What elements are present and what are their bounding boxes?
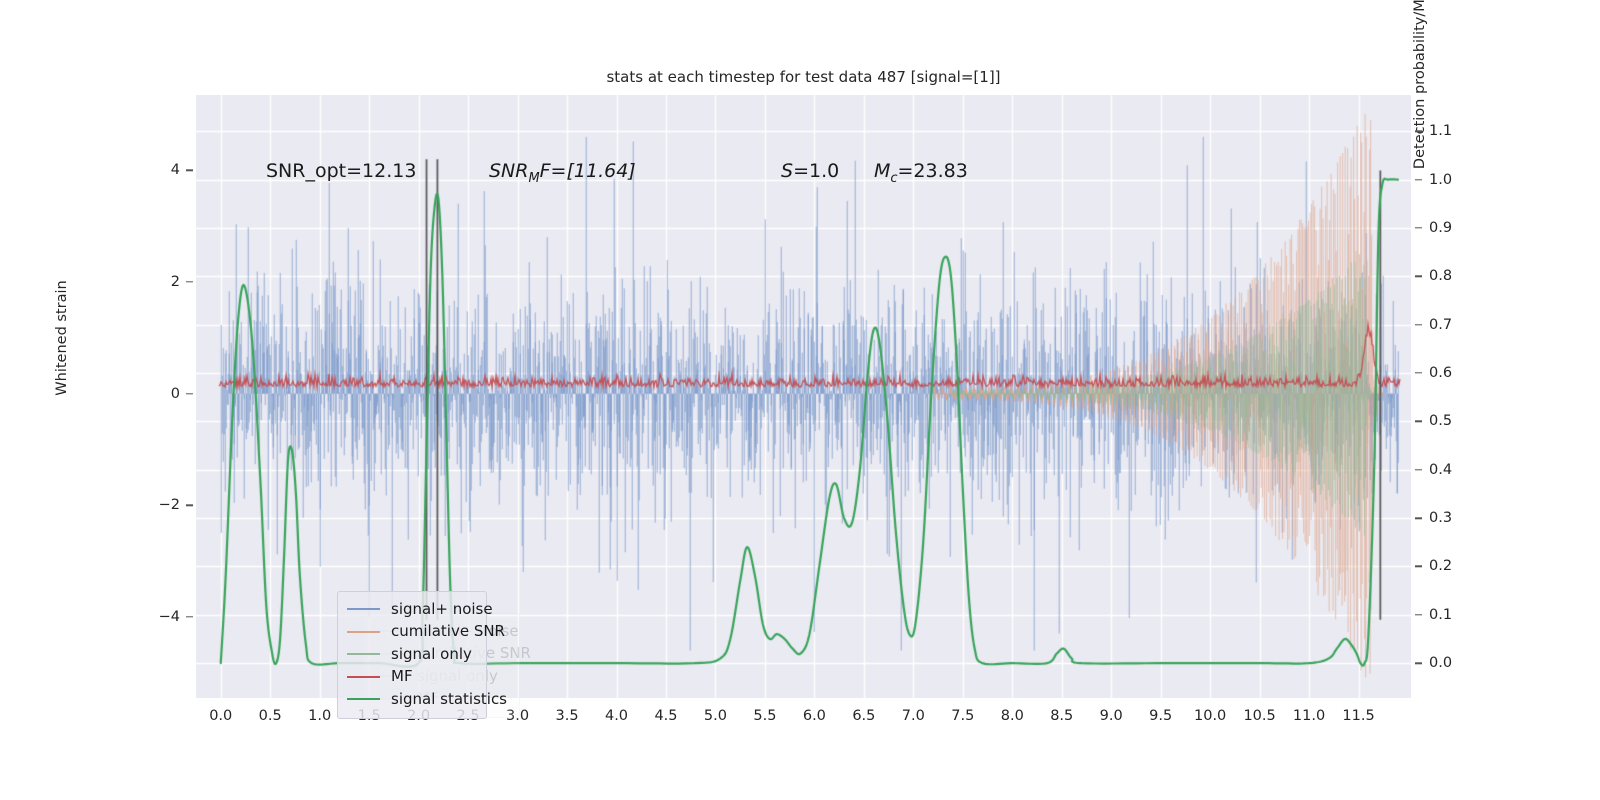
y-tick-mark-right xyxy=(1415,517,1422,518)
annotation-snr-mf: SNRMF=[11.64] xyxy=(489,160,636,186)
annotation-mc-val: =23.83 xyxy=(898,160,968,182)
x-tick-label: 7.5 xyxy=(951,708,974,724)
x-tick-label: 3.5 xyxy=(555,708,578,724)
x-tick-label: 5.5 xyxy=(753,708,776,724)
y-tick-mark-right xyxy=(1415,131,1422,132)
y-tick-mark-right xyxy=(1415,614,1422,615)
y-tick-mark-right xyxy=(1415,372,1422,373)
x-tick-label: 9.0 xyxy=(1100,708,1123,724)
x-tick-label: 0.0 xyxy=(209,708,232,724)
y-tick-label-right: 0.6 xyxy=(1429,365,1452,381)
legend-label: signal statistics xyxy=(391,692,507,707)
y-tick-label-right: 0.8 xyxy=(1429,268,1452,284)
annotation-snr-mf-sym: SNR xyxy=(489,160,528,182)
y-tick-label-right: 0.2 xyxy=(1429,558,1452,574)
annotation-s-val: =1.0 xyxy=(793,160,839,182)
y-tick-label-right: 0.3 xyxy=(1429,510,1452,526)
x-tick-label: 10.5 xyxy=(1243,708,1275,724)
annotation-snr-opt: SNR_opt=12.13 xyxy=(266,160,416,182)
y-tick-label-right: 0.9 xyxy=(1429,220,1452,236)
y-tick-label-right: 1.1 xyxy=(1429,123,1452,139)
legend-label: cumilative SNR xyxy=(391,624,505,639)
x-tick-label: 0.5 xyxy=(259,708,282,724)
y-tick-label-left: 2 xyxy=(140,274,180,290)
y-tick-label-right: 0.1 xyxy=(1429,607,1452,623)
x-tick-label: 11.0 xyxy=(1293,708,1325,724)
y-tick-label-right: 0.4 xyxy=(1429,462,1452,478)
legend-label: signal only xyxy=(391,647,472,662)
y-tick-label-left: −2 xyxy=(140,497,180,513)
x-tick-label: 8.0 xyxy=(1001,708,1024,724)
y-tick-label-left: −4 xyxy=(140,609,180,625)
y-tick-mark-right xyxy=(1415,227,1422,228)
legend-label: signal+ noise xyxy=(391,602,493,617)
y-tick-mark-left xyxy=(186,505,193,506)
legend-color-swatch xyxy=(347,698,380,700)
y-tick-mark-left xyxy=(186,616,193,617)
annotation-snr-mf-subscript: M xyxy=(528,171,539,186)
legend[interactable]: signal+ noisecumilative SNRsignal onlyMF… xyxy=(337,591,487,719)
x-tick-label: 8.5 xyxy=(1050,708,1073,724)
x-tick-label: 4.5 xyxy=(654,708,677,724)
y-tick-mark-right xyxy=(1415,469,1422,470)
legend-item[interactable]: cumilative SNR xyxy=(347,621,477,644)
legend-item[interactable]: signal+ noise xyxy=(347,598,477,621)
y-tick-mark-left xyxy=(186,393,193,394)
y-tick-mark-right xyxy=(1415,566,1422,567)
y-tick-mark-right xyxy=(1415,324,1422,325)
x-tick-label: 11.5 xyxy=(1342,708,1374,724)
y-axis-left-label: Whitened strain xyxy=(54,238,70,438)
legend-color-swatch xyxy=(347,653,380,655)
y-axis-right-label: Detection probability/MF xyxy=(1412,0,1428,240)
y-tick-label-right: 0.0 xyxy=(1429,655,1452,671)
x-tick-label: 5.0 xyxy=(704,708,727,724)
x-tick-label: 6.0 xyxy=(803,708,826,724)
legend-color-swatch xyxy=(347,676,380,678)
annotation-mc: Mc=23.83 xyxy=(874,160,968,186)
y-tick-label-left: 0 xyxy=(140,386,180,402)
legend-color-swatch xyxy=(347,608,380,610)
annotation-snr-mf-rest: F=[11.64] xyxy=(540,160,636,182)
x-tick-label: 6.5 xyxy=(852,708,875,724)
x-tick-label: 1.0 xyxy=(308,708,331,724)
legend-item[interactable]: signal statistics xyxy=(347,688,477,711)
y-tick-label-right: 1.0 xyxy=(1429,172,1452,188)
page-title: stats at each timestep for test data 487… xyxy=(196,68,1411,86)
y-tick-label-right: 0.7 xyxy=(1429,317,1452,333)
y-tick-mark-left xyxy=(186,281,193,282)
y-tick-label-left: 4 xyxy=(140,162,180,178)
legend-item[interactable]: signal only xyxy=(347,643,477,666)
x-tick-label: 7.0 xyxy=(902,708,925,724)
x-tick-label: 4.0 xyxy=(605,708,628,724)
annotation-mc-subscript: c xyxy=(890,171,897,186)
y-tick-mark-left xyxy=(186,170,193,171)
annotation-s: S=1.0 xyxy=(781,160,839,182)
y-tick-mark-right xyxy=(1415,662,1422,663)
legend-color-swatch xyxy=(347,631,380,633)
x-tick-label: 10.0 xyxy=(1194,708,1226,724)
legend-label: MF xyxy=(391,669,413,684)
y-tick-mark-right xyxy=(1415,421,1422,422)
x-tick-label: 9.5 xyxy=(1149,708,1172,724)
y-tick-mark-right xyxy=(1415,179,1422,180)
legend-item[interactable]: MF xyxy=(347,666,477,689)
figure-root: stats at each timestep for test data 487… xyxy=(0,0,1600,800)
annotation-s-sym: S xyxy=(781,160,793,182)
y-tick-mark-right xyxy=(1415,276,1422,277)
annotation-mc-sym: M xyxy=(874,160,890,182)
y-tick-label-right: 0.5 xyxy=(1429,413,1452,429)
